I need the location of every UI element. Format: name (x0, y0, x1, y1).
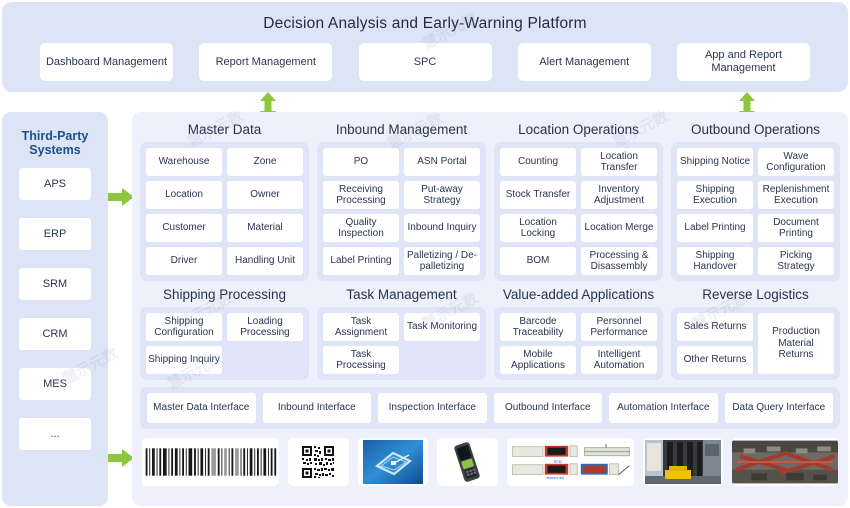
module-cell-personnel-performance[interactable]: Personnel Performance (581, 313, 657, 341)
group-body-outbound-operations: Shipping Notice Wave Configuration Shipp… (671, 142, 840, 281)
third-party-systems-list: APS ERP SRM CRM MES ... (19, 168, 91, 450)
module-group-shipping-processing: Shipping Processing Shipping Configurati… (140, 283, 309, 380)
module-cell-customer[interactable]: Customer (146, 214, 222, 242)
interface-automation[interactable]: Automation Interface (609, 393, 718, 423)
module-cell-shipping-notice[interactable]: Shipping Notice (677, 148, 753, 176)
module-cell-location-merge[interactable]: Location Merge (581, 214, 657, 242)
third-party-item-aps[interactable]: APS (19, 168, 91, 200)
module-cell-mobile-applications[interactable]: Mobile Applications (500, 346, 576, 374)
group-body-shipping-processing: Shipping Configuration Loading Processin… (140, 307, 309, 380)
third-party-systems-panel: Third-Party Systems APS ERP SRM CRM MES … (2, 112, 108, 506)
platform-tile-spc[interactable]: SPC (359, 43, 492, 81)
module-cell-inventory-adjustment[interactable]: Inventory Adjustment (581, 181, 657, 209)
module-cell-location[interactable]: Location (146, 181, 222, 209)
third-party-systems-title: Third-Party Systems (2, 129, 108, 157)
module-cell-driver[interactable]: Driver (146, 247, 222, 275)
wms-module-container: Master Data Warehouse Zone Location Owne… (132, 112, 848, 506)
module-cell-location-locking[interactable]: Location Locking (500, 214, 576, 242)
group-title-inbound-management: Inbound Management (317, 118, 486, 142)
module-cell-intelligent-automation[interactable]: Intelligent Automation (581, 346, 657, 374)
module-cell-label-printing-inbound[interactable]: Label Printing (323, 247, 399, 275)
conveyor-system-image (732, 438, 839, 486)
module-cell-barcode-traceability[interactable]: Barcode Traceability (500, 313, 576, 341)
group-title-master-data: Master Data (140, 118, 309, 142)
module-cell-wave-configuration[interactable]: Wave Configuration (758, 148, 834, 176)
module-group-master-data: Master Data Warehouse Zone Location Owne… (140, 118, 309, 281)
svg-text:RFID: RFID (553, 460, 562, 464)
rfid-tag-image (358, 438, 428, 486)
module-cell-processing-disassembly[interactable]: Processing & Disassembly (581, 247, 657, 275)
group-body-inbound-management: PO ASN Portal Receiving Processing Put-a… (317, 142, 486, 281)
platform-tile-dashboard-management[interactable]: Dashboard Management (40, 43, 173, 81)
module-cell-location-transfer[interactable]: Location Transfer (581, 148, 657, 176)
module-cell-task-monitoring[interactable]: Task Monitoring (404, 313, 480, 341)
module-cell-task-assignment[interactable]: Task Assignment (323, 313, 399, 341)
module-cell-handling-unit[interactable]: Handling Unit (227, 247, 303, 275)
module-cell-owner[interactable]: Owner (227, 181, 303, 209)
module-cell-production-material-returns[interactable]: Production Material Returns (758, 313, 834, 374)
svg-text:antenna unit: antenna unit (546, 476, 563, 480)
platform-tile-alert-management[interactable]: Alert Management (518, 43, 651, 81)
interface-layer-panel: Master Data Interface Inbound Interface … (140, 387, 840, 429)
group-title-shipping-processing: Shipping Processing (140, 283, 309, 307)
module-group-row-1: Master Data Warehouse Zone Location Owne… (140, 118, 840, 281)
module-cell-label-printing-outbound[interactable]: Label Printing (677, 214, 753, 242)
interface-data-query[interactable]: Data Query Interface (725, 393, 834, 423)
group-title-location-operations: Location Operations (494, 118, 663, 142)
module-cell-shipping-inquiry[interactable]: Shipping Inquiry (146, 346, 222, 374)
platform-banner: Decision Analysis and Early-Warning Plat… (2, 2, 848, 92)
module-group-row-2: Shipping Processing Shipping Configurati… (140, 283, 840, 380)
module-cell-put-away-strategy[interactable]: Put-away Strategy (404, 181, 480, 209)
module-cell-asn-portal[interactable]: ASN Portal (404, 148, 480, 176)
module-cell-replenishment-execution[interactable]: Replenishment Execution (758, 181, 834, 209)
platform-tile-list: Dashboard Management Report Management S… (2, 33, 848, 81)
handheld-pda-image (437, 438, 498, 486)
module-cell-zone[interactable]: Zone (227, 148, 303, 176)
barcode-image (142, 438, 279, 486)
group-body-location-operations: Counting Location Transfer Stock Transfe… (494, 142, 663, 281)
platform-title: Decision Analysis and Early-Warning Plat… (2, 2, 848, 33)
module-cell-quality-inspection[interactable]: Quality Inspection (323, 214, 399, 242)
group-body-reverse-logistics: Sales Returns Other Returns Production M… (671, 307, 840, 380)
module-cell-bom[interactable]: BOM (500, 247, 576, 275)
module-cell-picking-strategy[interactable]: Picking Strategy (758, 247, 834, 275)
module-cell-stock-transfer[interactable]: Stock Transfer (500, 181, 576, 209)
interface-inspection[interactable]: Inspection Interface (378, 393, 487, 423)
module-group-value-added-applications: Value-added Applications Barcode Traceab… (494, 283, 663, 380)
module-group-task-management: Task Management Task Assignment Task Mon… (317, 283, 486, 380)
module-group-outbound-operations: Outbound Operations Shipping Notice Wave… (671, 118, 840, 281)
module-cell-po[interactable]: PO (323, 148, 399, 176)
third-party-item-crm[interactable]: CRM (19, 318, 91, 350)
interface-master-data[interactable]: Master Data Interface (147, 393, 256, 423)
module-cell-shipping-configuration[interactable]: Shipping Configuration (146, 313, 222, 341)
module-group-inbound-management: Inbound Management PO ASN Portal Receivi… (317, 118, 486, 281)
platform-tile-report-management[interactable]: Report Management (199, 43, 332, 81)
warehouse-rack-image (643, 438, 722, 486)
module-cell-sales-returns[interactable]: Sales Returns (677, 313, 753, 341)
module-cell-inbound-inquiry[interactable]: Inbound Inquiry (404, 214, 480, 242)
platform-tile-app-and-report-management[interactable]: App and Report Management (677, 43, 810, 81)
third-party-item-more[interactable]: ... (19, 418, 91, 450)
group-body-task-management: Task Assignment Task Monitoring Task Pro… (317, 307, 486, 380)
group-title-value-added-applications: Value-added Applications (494, 283, 663, 307)
module-cell-other-returns[interactable]: Other Returns (677, 346, 753, 374)
module-group-location-operations: Location Operations Counting Location Tr… (494, 118, 663, 281)
module-cell-task-processing[interactable]: Task Processing (323, 346, 399, 374)
group-title-outbound-operations: Outbound Operations (671, 118, 840, 142)
module-cell-receiving-processing[interactable]: Receiving Processing (323, 181, 399, 209)
interface-inbound[interactable]: Inbound Interface (263, 393, 372, 423)
module-cell-shipping-handover[interactable]: Shipping Handover (677, 247, 753, 275)
module-group-reverse-logistics: Reverse Logistics Sales Returns Other Re… (671, 283, 840, 380)
third-party-item-mes[interactable]: MES (19, 368, 91, 400)
module-cell-shipping-execution[interactable]: Shipping Execution (677, 181, 753, 209)
third-party-item-erp[interactable]: ERP (19, 218, 91, 250)
interface-outbound[interactable]: Outbound Interface (494, 393, 603, 423)
third-party-item-srm[interactable]: SRM (19, 268, 91, 300)
group-title-reverse-logistics: Reverse Logistics (671, 283, 840, 307)
group-title-task-management: Task Management (317, 283, 486, 307)
module-cell-palletizing-depalletizing[interactable]: Palletizing / De-palletizing (404, 247, 480, 275)
module-cell-warehouse[interactable]: Warehouse (146, 148, 222, 176)
module-cell-loading-processing[interactable]: Loading Processing (227, 313, 303, 341)
module-cell-document-printing[interactable]: Document Printing (758, 214, 834, 242)
group-body-value-added-applications: Barcode Traceability Personnel Performan… (494, 307, 663, 380)
group-body-master-data: Warehouse Zone Location Owner Customer M… (140, 142, 309, 281)
qr-code-image (288, 438, 349, 486)
module-cell-material[interactable]: Material (227, 214, 303, 242)
module-cell-counting[interactable]: Counting (500, 148, 576, 176)
rfid-schematic-image: RFID antenna unit (507, 438, 635, 486)
hardware-device-row: RFID antenna unit (140, 438, 840, 486)
